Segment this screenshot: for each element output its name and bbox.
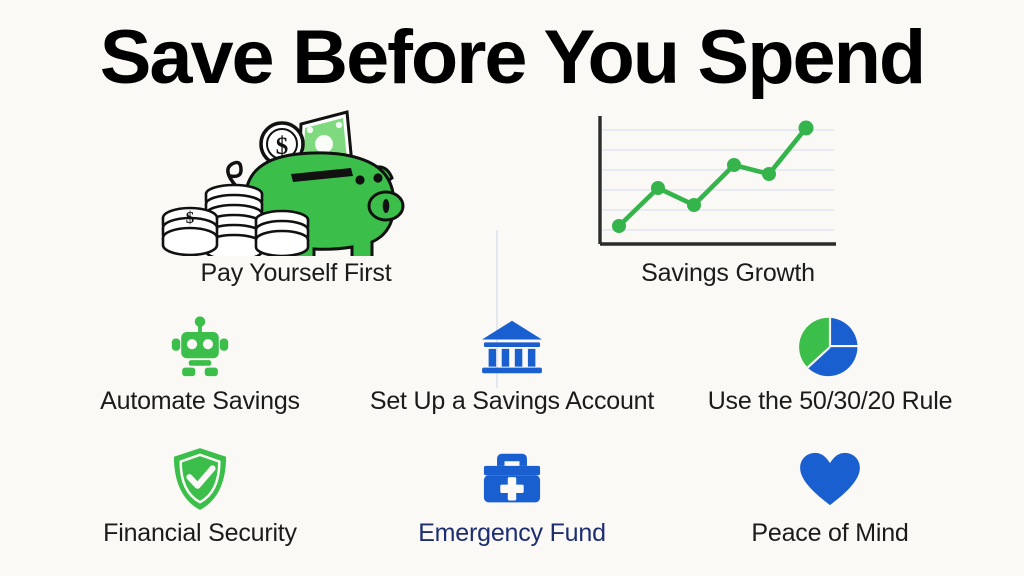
- item-label-savings-account: Set Up a Savings Account: [347, 384, 677, 418]
- line-chart-icon: [518, 108, 938, 256]
- hero-label-pay-yourself-first: Pay Yourself First: [86, 256, 506, 290]
- bank-icon: [347, 314, 677, 380]
- hero-label-savings-growth: Savings Growth: [518, 256, 938, 290]
- item-financial-security[interactable]: Financial Security: [35, 444, 365, 562]
- item-503020-rule[interactable]: Use the 50/30/20 Rule: [665, 312, 995, 430]
- pie-chart-icon: [665, 314, 995, 380]
- item-label-financial-security: Financial Security: [35, 516, 365, 550]
- heart-icon: [665, 446, 995, 512]
- item-savings-account[interactable]: Set Up a Savings Account: [347, 312, 677, 430]
- hero-item-pay-yourself-first[interactable]: $: [86, 108, 506, 298]
- icon-row-2: Financial Security Emergency Fund: [0, 444, 1024, 562]
- icon-row-1: Automate Savings Set Up a Savings Acco: [0, 312, 1024, 430]
- svg-text:$: $: [186, 208, 195, 227]
- piggy-bank-icon: $: [86, 108, 506, 256]
- item-label-automate-savings: Automate Savings: [35, 384, 365, 418]
- hero-row: $: [0, 108, 1024, 298]
- item-peace-of-mind[interactable]: Peace of Mind: [665, 444, 995, 562]
- first-aid-kit-icon: [347, 446, 677, 512]
- shield-check-icon: [35, 446, 365, 512]
- item-label-emergency-fund: Emergency Fund: [347, 516, 677, 550]
- hero-item-savings-growth[interactable]: Savings Growth: [518, 108, 938, 298]
- item-label-503020-rule: Use the 50/30/20 Rule: [665, 384, 995, 418]
- robot-icon: [35, 314, 365, 380]
- slide-canvas: Save Before You Spend: [0, 0, 1024, 576]
- item-label-peace-of-mind: Peace of Mind: [665, 516, 995, 550]
- page-title: Save Before You Spend: [0, 14, 1024, 102]
- item-automate-savings[interactable]: Automate Savings: [35, 312, 365, 430]
- item-emergency-fund[interactable]: Emergency Fund: [347, 444, 677, 562]
